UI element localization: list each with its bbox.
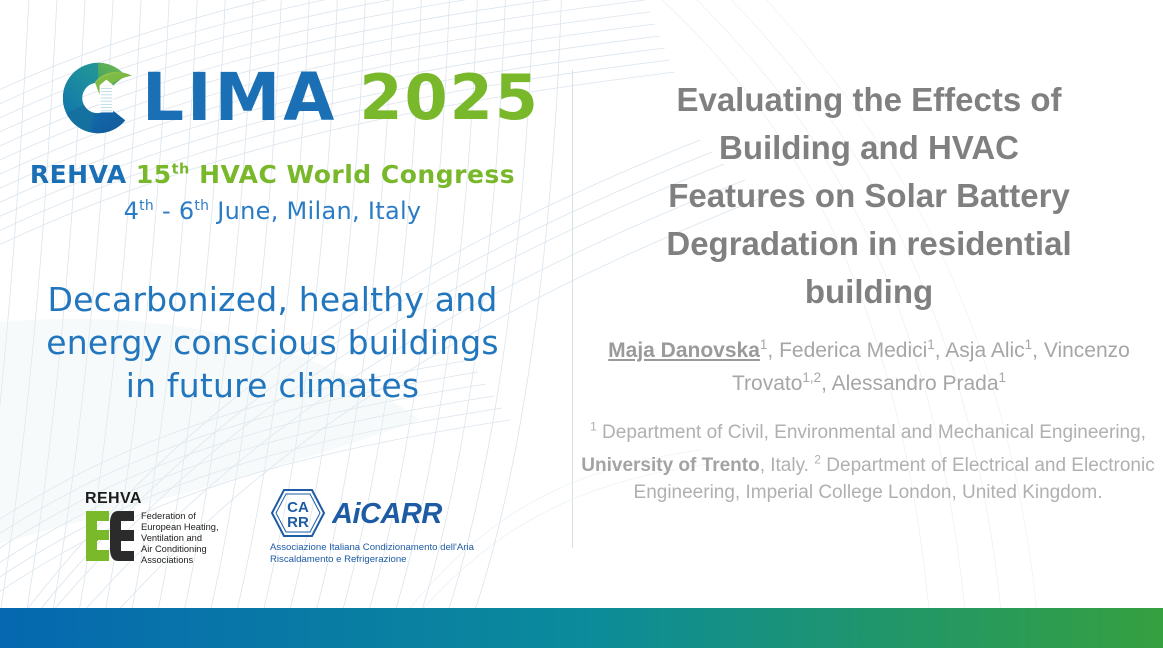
conference-tagline: Decarbonized, healthy and energy conscio… xyxy=(0,278,545,407)
tagline-line-2: energy conscious buildings xyxy=(0,321,545,364)
aicarr-description: Associazione Italiana Condizionamento de… xyxy=(270,542,480,565)
congress-line: REHVA 15th HVAC World Congress xyxy=(0,160,545,189)
rehva-wordmark: REHVA xyxy=(85,490,219,508)
congress-edition-number: 15 xyxy=(136,160,172,189)
author-2-affiliation: 1 xyxy=(927,337,934,352)
author-sep-1: , xyxy=(767,339,779,362)
author-4-affiliation: 1,2 xyxy=(802,370,821,385)
author-3: Asja Alic xyxy=(945,339,1024,362)
date-day-to-suffix: th xyxy=(194,198,209,214)
affiliation-list: 1 Department of Civil, Environmental and… xyxy=(578,414,1158,506)
date-day-from-suffix: th xyxy=(139,198,154,214)
bottom-gradient-bar xyxy=(0,608,1163,648)
title-line-1: Evaluating the Effects of xyxy=(586,76,1152,124)
aicarr-logo: CA RR AiCARR Associazione Italiana Condi… xyxy=(270,488,480,565)
association-logos: REHVA Federation of European Heating, Ve… xyxy=(0,482,545,577)
author-5-affiliation: 1 xyxy=(999,370,1006,385)
title-line-2: Building and HVAC xyxy=(586,124,1152,172)
aicarr-wordmark: AiCARR xyxy=(332,495,480,531)
title-slide: LIMA 2025 REHVA 15th HVAC World Congress… xyxy=(0,0,1163,648)
clima-wordmark: LIMA xyxy=(142,65,337,131)
rehva-logo: REHVA Federation of European Heating, Ve… xyxy=(84,490,219,566)
rehva-description: Federation of European Heating, Ventilat… xyxy=(141,511,219,566)
tagline-line-1: Decarbonized, healthy and xyxy=(0,278,545,321)
author-sep-2: , xyxy=(935,339,946,362)
rehva-3e-icon xyxy=(84,509,136,563)
date-day-from: 4 xyxy=(124,197,140,225)
affiliation-2-marker: 2 xyxy=(814,452,821,466)
congress-organization: REHVA xyxy=(30,160,127,189)
author-2: Federica Medici xyxy=(779,339,927,362)
affiliation-1-emphasis: University of Trento xyxy=(581,455,759,476)
tagline-line-3: in future climates xyxy=(0,364,545,407)
title-line-4: Degradation in residential xyxy=(586,220,1152,268)
date-separator: - xyxy=(154,197,179,225)
author-5: Alessandro Prada xyxy=(832,372,999,395)
page-title: Evaluating the Effects of Building and H… xyxy=(586,76,1152,316)
clima-circle-building-icon xyxy=(58,58,138,138)
title-line-5: building xyxy=(586,268,1152,316)
date-rest: June, Milan, Italy xyxy=(209,197,421,225)
branding-panel: LIMA 2025 REHVA 15th HVAC World Congress… xyxy=(0,0,572,608)
author-sep-3: , xyxy=(1032,339,1044,362)
clima-year: 2025 xyxy=(359,67,540,129)
congress-rest: HVAC World Congress xyxy=(190,160,515,189)
svg-text:RR: RR xyxy=(287,514,309,531)
date-location-line: 4th - 6th June, Milan, Italy xyxy=(0,197,545,225)
title-line-3: Features on Solar Battery xyxy=(586,172,1152,220)
svg-text:AiCARR: AiCARR xyxy=(332,498,442,530)
affiliation-1-text-before: Department of Civil, Environmental and M… xyxy=(597,422,1146,443)
date-day-to: 6 xyxy=(179,197,195,225)
presenting-author: Maja Danovska xyxy=(608,339,760,362)
author-sep-4: , xyxy=(821,372,832,395)
affiliation-1-marker: 1 xyxy=(590,420,597,434)
clima-logo: LIMA 2025 xyxy=(58,56,540,140)
author-list: Maja Danovska1, Federica Medici1, Asja A… xyxy=(586,331,1152,397)
paper-panel: Evaluating the Effects of Building and H… xyxy=(572,0,1163,608)
affiliation-1-text-after: , Italy. xyxy=(760,455,809,476)
aicarr-hexagon-badge-icon: CA RR xyxy=(270,488,326,538)
congress-edition-suffix: th xyxy=(172,162,190,178)
